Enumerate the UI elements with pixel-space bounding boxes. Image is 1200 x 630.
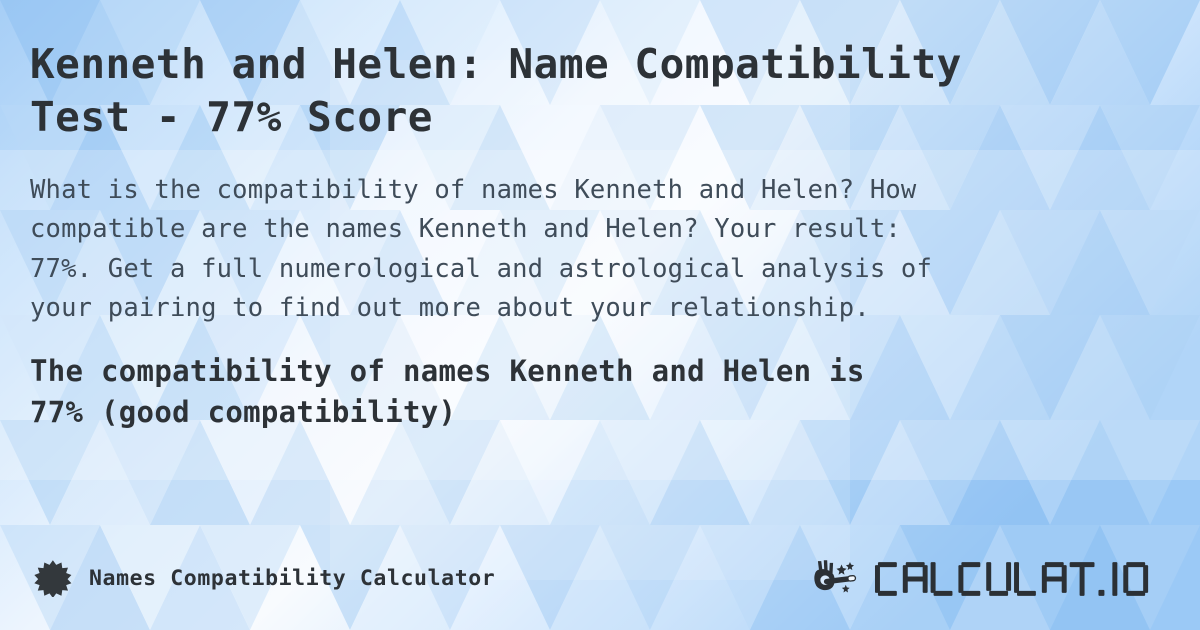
starburst-icon xyxy=(34,559,72,597)
description-text: What is the compatibility of names Kenne… xyxy=(30,171,1170,329)
calculatio-wordmark xyxy=(874,558,1166,598)
page-title: Kenneth and Helen: Name Compatibility Te… xyxy=(30,38,1170,145)
calculatio-wordmark-glyphs xyxy=(874,560,1166,598)
magic-wand-hand-icon xyxy=(812,557,866,599)
card-footer: Names Compatibility Calculator xyxy=(0,550,1200,606)
compatibility-result-text: The compatibility of names Kenneth and H… xyxy=(30,351,1170,433)
site-brand: Names Compatibility Calculator xyxy=(34,559,495,597)
site-brand-label: Names Compatibility Calculator xyxy=(89,566,495,591)
card-content: Kenneth and Helen: Name Compatibility Te… xyxy=(0,0,1200,630)
calculatio-logo xyxy=(812,557,1166,599)
social-card: Kenneth and Helen: Name Compatibility Te… xyxy=(0,0,1200,630)
